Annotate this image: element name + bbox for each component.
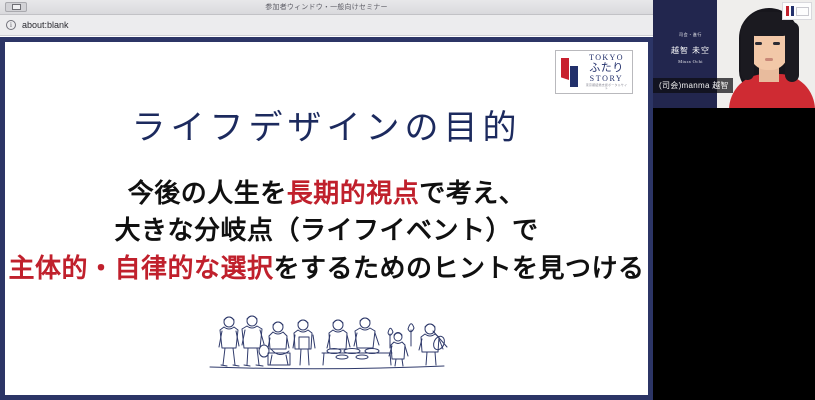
slide-title: ライフデザインの目的	[5, 100, 648, 149]
eye-right	[773, 42, 780, 45]
address-bar[interactable]: i about:blank	[0, 15, 653, 36]
info-circle-icon[interactable]: i	[6, 20, 16, 30]
body-line-3-highlight: 主体的・自律的な選択	[8, 254, 273, 283]
hair-side-right	[785, 22, 799, 82]
speaker-name-roman: Miura Ochi	[663, 59, 718, 64]
logo-small-wordmark	[796, 7, 809, 16]
screen-root: 参加者ウィンドウ・一般向けセミナー i about:blank TOKYO ふた…	[0, 0, 815, 400]
logo-futari-text: ふたり	[585, 63, 628, 74]
body-line-1-highlight: 長期的視点	[287, 179, 420, 208]
speaker-namecard: 司会・進行 越智 未空 Miura Ochi	[663, 32, 718, 64]
mouth	[765, 58, 773, 61]
logo-flag-red	[561, 58, 569, 80]
logo-small-flag-red	[786, 6, 789, 16]
body-line-1: 今後の人生を長期的視点で考え、	[5, 175, 648, 212]
logo-flag-navy	[570, 66, 578, 87]
url-text: about:blank	[22, 20, 69, 30]
video-tile[interactable]: 司会・進行 越智 未空 Miura Ochi	[653, 0, 815, 108]
body-line-1-part-c: で考え、	[419, 179, 525, 208]
eye-left	[755, 42, 762, 45]
participant-name-label: (司会)manma 越智	[653, 78, 733, 93]
logo-small-flag-navy	[791, 6, 794, 16]
logo-story-text: STORY	[585, 75, 628, 83]
browser-window: 参加者ウィンドウ・一般向けセミナー i about:blank TOKYO ふた…	[0, 0, 653, 400]
tokyo-futari-story-logo: TOKYO ふたり STORY 東京都結婚支援ポータルサイト	[555, 50, 633, 94]
slide-body-text: 今後の人生を長期的視点で考え、 大きな分岐点（ライフイベント）で 主体的・自律的…	[5, 175, 648, 287]
logo-tokyo-text: TOKYO	[585, 54, 628, 62]
video-panel[interactable]: 司会・進行 越智 未空 Miura Ochi	[653, 0, 815, 400]
body-line-1-part-a: 今後の人生を	[128, 179, 287, 208]
body-line-3-part-b: をするためのヒントを見つける	[274, 254, 645, 283]
window-title: 参加者ウィンドウ・一般向けセミナー	[0, 2, 653, 12]
tokyo-futari-story-logo-small	[782, 2, 812, 20]
video-panel-empty-area	[653, 108, 815, 400]
speaker-name: 越智 未空	[663, 45, 718, 56]
body-line-3: 主体的・自律的な選択をするためのヒントを見つける	[5, 250, 648, 287]
speaker-role: 司会・進行	[663, 32, 718, 38]
body-line-2: 大きな分岐点（ライフイベント）で	[5, 212, 648, 249]
people-line-art-illustration	[202, 311, 452, 373]
slide-content: TOKYO ふたり STORY 東京都結婚支援ポータルサイト ライフデザインの目…	[5, 42, 648, 395]
hair-side-left	[741, 22, 754, 80]
window-titlebar: 参加者ウィンドウ・一般向けセミナー	[0, 0, 653, 15]
logo-wordmark: TOKYO ふたり STORY 東京都結婚支援ポータルサイト	[585, 54, 628, 90]
logo-flag-mark	[560, 56, 582, 88]
slide-frame: TOKYO ふたり STORY 東京都結婚支援ポータルサイト ライフデザインの目…	[0, 37, 653, 400]
logo-subtitle-text: 東京都結婚支援ポータルサイト	[585, 84, 628, 90]
